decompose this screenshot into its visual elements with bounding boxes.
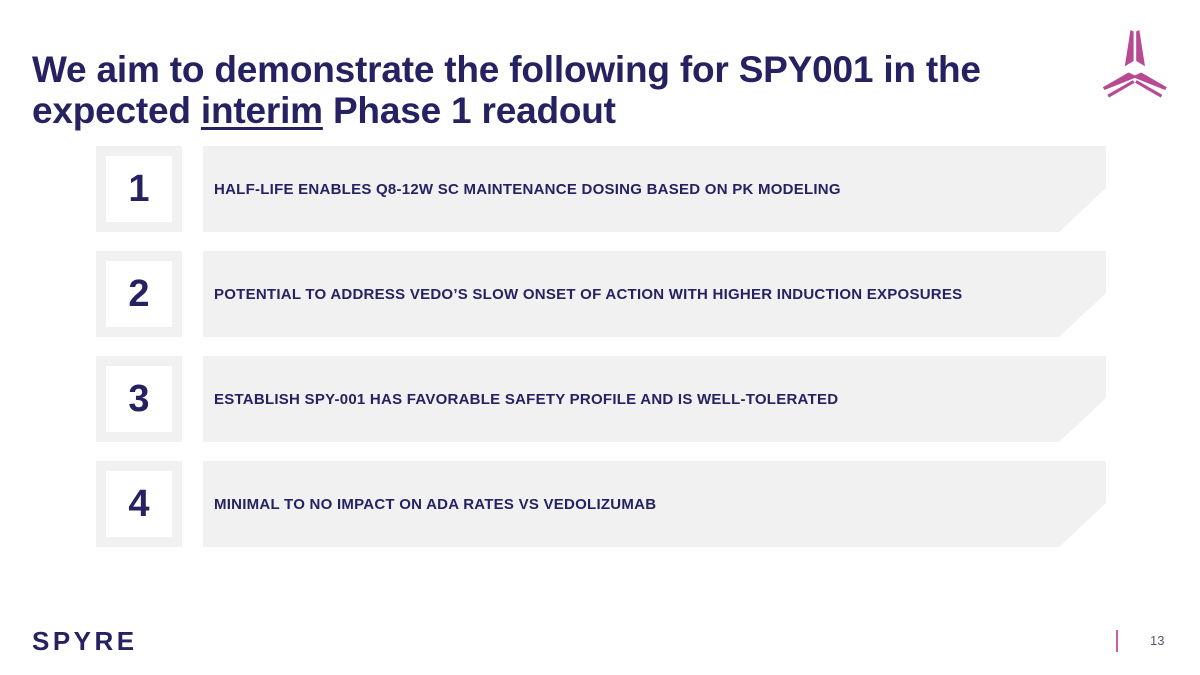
point-number-box: 2 [96,251,182,337]
page-number: 13 [1150,634,1164,647]
point-number: 4 [128,485,149,523]
point-number-box: 1 [96,146,182,232]
point-banner: HALF-LIFE ENABLES Q8-12W SC MAINTENANCE … [203,146,1106,232]
point-banner: POTENTIAL TO ADDRESS VEDO’S SLOW ONSET O… [203,251,1106,337]
numbered-points-list: 1 HALF-LIFE ENABLES Q8-12W SC MAINTENANC… [0,0,1200,675]
point-number-inner: 1 [106,156,172,222]
point-number: 2 [128,275,149,313]
slide-canvas: We aim to demonstrate the following for … [0,0,1200,675]
list-item: 2 POTENTIAL TO ADDRESS VEDO’S SLOW ONSET… [96,251,1106,337]
point-text: POTENTIAL TO ADDRESS VEDO’S SLOW ONSET O… [203,286,962,303]
point-number: 1 [128,170,149,208]
point-number-inner: 2 [106,261,172,327]
point-number-box: 4 [96,461,182,547]
point-text: HALF-LIFE ENABLES Q8-12W SC MAINTENANCE … [203,181,841,198]
page-number-separator [1116,630,1118,652]
point-number-box: 3 [96,356,182,442]
spyre-wordmark: SPYRE [32,628,138,654]
point-banner: MINIMAL TO NO IMPACT ON ADA RATES VS VED… [203,461,1106,547]
point-number-inner: 3 [106,366,172,432]
point-text: ESTABLISH SPY-001 HAS FAVORABLE SAFETY P… [203,391,838,408]
point-number-inner: 4 [106,471,172,537]
point-number: 3 [128,380,149,418]
list-item: 1 HALF-LIFE ENABLES Q8-12W SC MAINTENANC… [96,146,1106,232]
point-text: MINIMAL TO NO IMPACT ON ADA RATES VS VED… [203,496,656,513]
point-banner: ESTABLISH SPY-001 HAS FAVORABLE SAFETY P… [203,356,1106,442]
list-item: 4 MINIMAL TO NO IMPACT ON ADA RATES VS V… [96,461,1106,547]
list-item: 3 ESTABLISH SPY-001 HAS FAVORABLE SAFETY… [96,356,1106,442]
